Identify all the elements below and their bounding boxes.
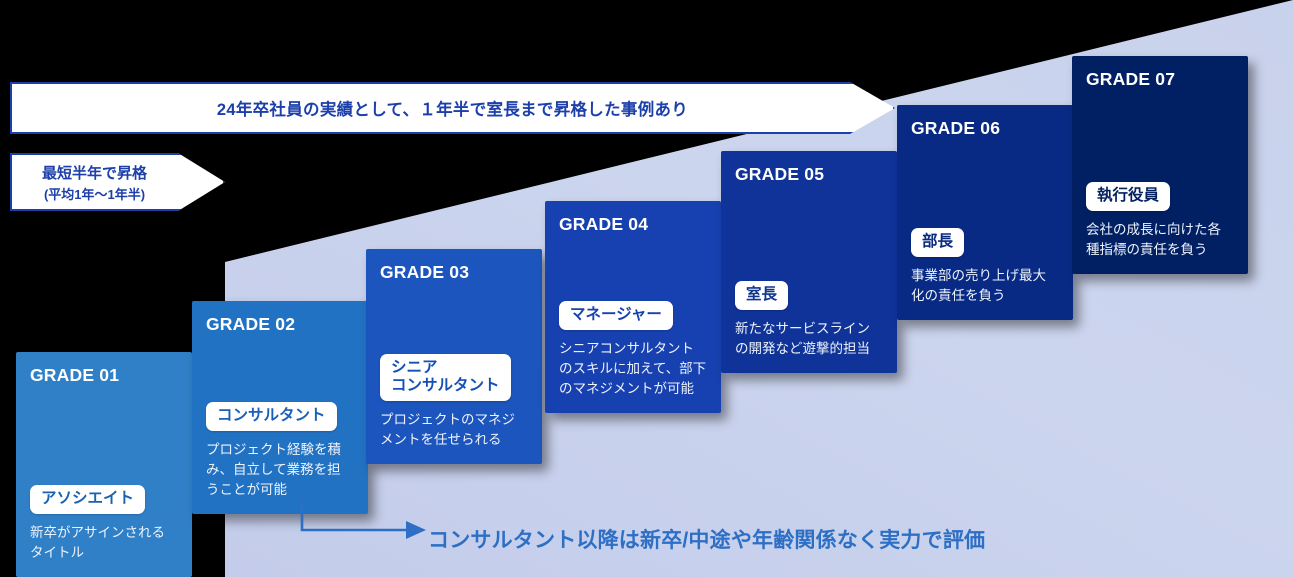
spacer (380, 282, 528, 353)
grade-role-badge: 部長 (911, 228, 964, 257)
grade-title: GRADE 06 (911, 119, 1059, 138)
grade-title: GRADE 01 (30, 366, 178, 385)
grade-description: プロジェクトのマネジメントを任せられる (380, 410, 528, 450)
grade-description: シニアコンサルタントのスキルに加えて、部下のマネジメントが可能 (559, 339, 707, 399)
promotion-speed-line1: 最短半年で昇格 (42, 162, 147, 183)
promotion-speed-banner: 最短半年で昇格 (平均1年〜1年半) (10, 153, 225, 211)
grade-description: 事業部の売り上げ最大化の責任を負う (911, 266, 1059, 306)
grade-description: 新たなサービスラインの開発など遊撃的担当 (735, 319, 883, 359)
grade-title: GRADE 05 (735, 165, 883, 184)
grade-role-badge: シニア コンサルタント (380, 354, 511, 402)
grade-card-04[interactable]: GRADE 04 マネージャー シニアコンサルタントのスキルに加えて、部下のマネ… (545, 201, 721, 413)
grade-description: プロジェクト経験を積み、自立して業務を担うことが可能 (206, 440, 354, 500)
evaluation-note: コンサルタント以降は新卒/中途や年齢関係なく実力で評価 (428, 524, 985, 554)
grade-role-badge: マネージャー (559, 301, 673, 330)
grade-role-badge: コンサルタント (206, 402, 337, 431)
grade-role-badge: アソシエイト (30, 485, 145, 514)
spacer (1086, 89, 1234, 182)
grade-description: 新卒がアサインされるタイトル (30, 523, 178, 563)
grade-card-02[interactable]: GRADE 02 コンサルタント プロジェクト経験を積み、自立して業務を担うこと… (192, 301, 368, 514)
grade-card-07[interactable]: GRADE 07 執行役員 会社の成長に向けた各種指標の責任を負う (1072, 56, 1248, 274)
spacer (735, 184, 883, 281)
spacer (206, 334, 354, 402)
grade-card-03[interactable]: GRADE 03 シニア コンサルタント プロジェクトのマネジメントを任せられる (366, 249, 542, 464)
grade-title: GRADE 04 (559, 215, 707, 234)
grade-card-06[interactable]: GRADE 06 部長 事業部の売り上げ最大化の責任を負う (897, 105, 1073, 320)
spacer (30, 385, 178, 485)
grade-title: GRADE 03 (380, 263, 528, 282)
grade-card-05[interactable]: GRADE 05 室長 新たなサービスラインの開発など遊撃的担当 (721, 151, 897, 373)
grade-role-badge: 室長 (735, 281, 788, 310)
career-grade-diagram: GRADE 01 アソシエイト 新卒がアサインされるタイトル GRADE 02 … (0, 0, 1293, 577)
grade-role-badge: 執行役員 (1086, 182, 1170, 211)
spacer (559, 234, 707, 301)
achievement-banner: 24年卒社員の実績として、１年半で室長まで昇格した事例あり (10, 82, 895, 134)
promotion-speed-line2: (平均1年〜1年半) (44, 184, 145, 203)
grade-description: 会社の成長に向けた各種指標の責任を負う (1086, 220, 1234, 260)
spacer (911, 138, 1059, 228)
achievement-banner-text: 24年卒社員の実績として、１年半で室長まで昇格した事例あり (217, 96, 688, 120)
grade-title: GRADE 07 (1086, 70, 1234, 89)
grade-card-01[interactable]: GRADE 01 アソシエイト 新卒がアサインされるタイトル (16, 352, 192, 577)
grade-title: GRADE 02 (206, 315, 354, 334)
